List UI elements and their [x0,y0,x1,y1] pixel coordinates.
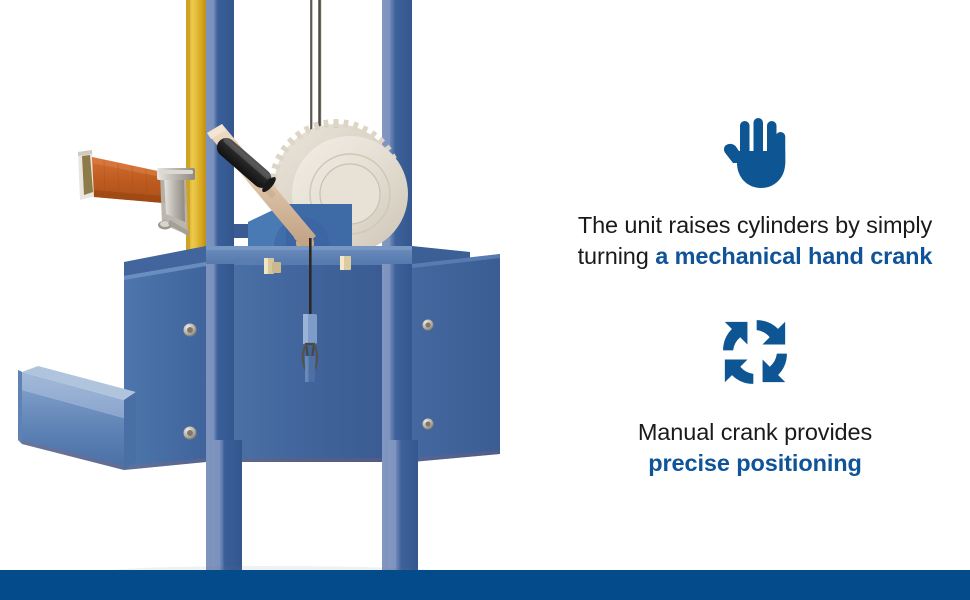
feature-1-line2-plain: turning [578,243,656,269]
feature-item-precise-positioning: Manual crank provides precise positionin… [540,310,970,479]
feature-1-text: The unit raises cylinders by simply turn… [540,210,970,272]
panel-bolt [184,427,197,440]
panel-bolt [184,324,197,337]
right-wing-panel [412,254,500,462]
feature-2-text: Manual crank provides precise positionin… [540,417,970,479]
feature-item-hand-crank: The unit raises cylinders by simply turn… [540,118,970,272]
ratchet-strap-assembly [78,150,195,236]
feature-2-line1: Manual crank provides [638,419,872,445]
rotate-arrows-icon [540,310,970,394]
feature-1-line1: The unit raises cylinders by simply [578,212,932,238]
left-wing-panel [124,262,206,470]
feature-1-line2-highlight: a mechanical hand crank [655,243,932,269]
hand-icon [540,118,970,190]
panel-bolt [423,419,434,430]
feature-list: The unit raises cylinders by simply turn… [540,0,970,570]
banner-canvas: The unit raises cylinders by simply turn… [0,0,970,600]
bottom-accent-bar [0,570,970,600]
loading-tray [18,366,136,470]
panel-bolt [423,320,434,331]
product-image [0,0,540,600]
feature-2-line2-highlight: precise positioning [648,450,862,476]
